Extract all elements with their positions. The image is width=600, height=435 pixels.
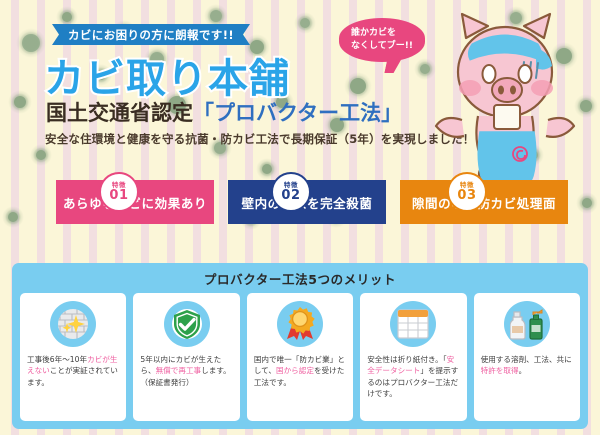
feature-number-circle-03: 特徴03 — [447, 172, 487, 212]
shield-check-icon — [164, 301, 210, 347]
speech-bubble-line-1: 誰かカビを — [351, 27, 425, 40]
brick-wall-sparkle-icon — [50, 301, 96, 347]
merit-card-text: 使用する溶剤、工法、共に特許を取得。 — [474, 354, 580, 377]
subtitle: 国土交通省認定「プロバクター工法」 — [46, 97, 402, 127]
data-sheet-icon — [390, 301, 436, 347]
page-title: カビ取り本舗 — [44, 46, 290, 104]
mold-spore — [300, 18, 310, 28]
merit-plain-text: 安全性は折り紙付き。「 — [367, 355, 446, 364]
merit-card[interactable]: 使用する溶剤、工法、共に特許を取得。 — [474, 293, 580, 421]
speech-bubble-tail — [385, 59, 402, 73]
merit-card-text: 安全性は折り紙付き。「安全データシート」を提示するのはプロバクター工法だけです。 — [360, 354, 466, 400]
feature-badges: 特徴01あらゆるカビに効果あり特徴02壁内の菌糸を完全殺菌特徴03隙間のない防カ… — [0, 168, 600, 230]
feature-badge-01[interactable]: 特徴01あらゆるカビに効果あり — [56, 180, 214, 224]
subtitle-certification: 国土交通省認定 — [46, 101, 193, 125]
merit-highlight-text: 国から認定 — [276, 366, 314, 375]
bottle-spray-icon — [504, 301, 550, 347]
subtitle-method-name: 「プロバクター工法」 — [193, 101, 402, 125]
merit-card[interactable]: 安全性は折り紙付き。「安全データシート」を提示するのはプロバクター工法だけです。 — [360, 293, 466, 421]
mold-spore — [350, 78, 366, 94]
merit-plain-text: 。 — [519, 366, 527, 375]
merit-card-text: 5年以内にカビが生えたら、無償で再工事します。（保証書発行） — [133, 354, 239, 388]
merit-plain-text: 工事後6年～10年 — [27, 355, 87, 364]
merits-title: プロバクター工法5つのメリット — [12, 263, 588, 293]
feature-badge-number: 01 — [109, 189, 128, 202]
feature-badge-number: 02 — [281, 189, 300, 202]
feature-badge-number: 03 — [457, 189, 476, 202]
merit-plain-text: 使用する溶剤、工法、共に — [481, 355, 572, 364]
merit-card-text: 工事後6年～10年カビが生えないことが実証されています。 — [20, 354, 126, 388]
feature-number-circle-02: 特徴02 — [271, 172, 311, 212]
mold-spore — [420, 64, 430, 74]
merit-card[interactable]: 国内で唯一「防カビ業」として、国から認定を受けた工法です。 — [247, 293, 353, 421]
mold-spore — [62, 12, 72, 22]
mold-spore — [22, 34, 40, 52]
mold-spore — [14, 96, 26, 108]
merit-card-text: 国内で唯一「防カビ業」として、国から認定を受けた工法です。 — [247, 354, 353, 388]
merit-highlight-text: 特許を取得 — [481, 366, 519, 375]
mold-spore — [36, 150, 46, 160]
lead-description: 安全な住環境と健康を守る抗菌・防カビ工法で長期保証（5年）を実現しました！ — [45, 131, 474, 147]
medal-ribbon-icon — [277, 301, 323, 347]
mold-spore — [210, 10, 222, 22]
merit-card[interactable]: 5年以内にカビが生えたら、無償で再工事します。（保証書発行） — [133, 293, 239, 421]
announcement-ribbon: カビにお困りの方に朗報です!! — [52, 24, 250, 45]
feature-number-circle-01: 特徴01 — [99, 172, 139, 212]
ribbon-label: カビにお困りの方に朗報です!! — [68, 27, 234, 43]
merit-card[interactable]: 工事後6年～10年カビが生えないことが実証されています。 — [20, 293, 126, 421]
merits-panel: プロバクター工法5つのメリット 工事後6 — [12, 263, 588, 429]
feature-badge-02[interactable]: 特徴02壁内の菌糸を完全殺菌 — [228, 180, 386, 224]
speech-bubble-line-2: なくしてブー!! — [351, 40, 425, 53]
landing-page: カビにお困りの方に朗報です!! カビ取り本舗 国土交通省認定「プロバクター工法」… — [0, 0, 600, 435]
merit-card-list: 工事後6年～10年カビが生えないことが実証されています。 5年以内にカビが生えた… — [12, 293, 588, 421]
merit-highlight-text: 無償で再工事 — [156, 366, 202, 375]
speech-bubble: 誰かカビを なくしてブー!! — [339, 18, 425, 62]
feature-badge-03[interactable]: 特徴03隙間のない防カビ処理面 — [400, 180, 568, 224]
